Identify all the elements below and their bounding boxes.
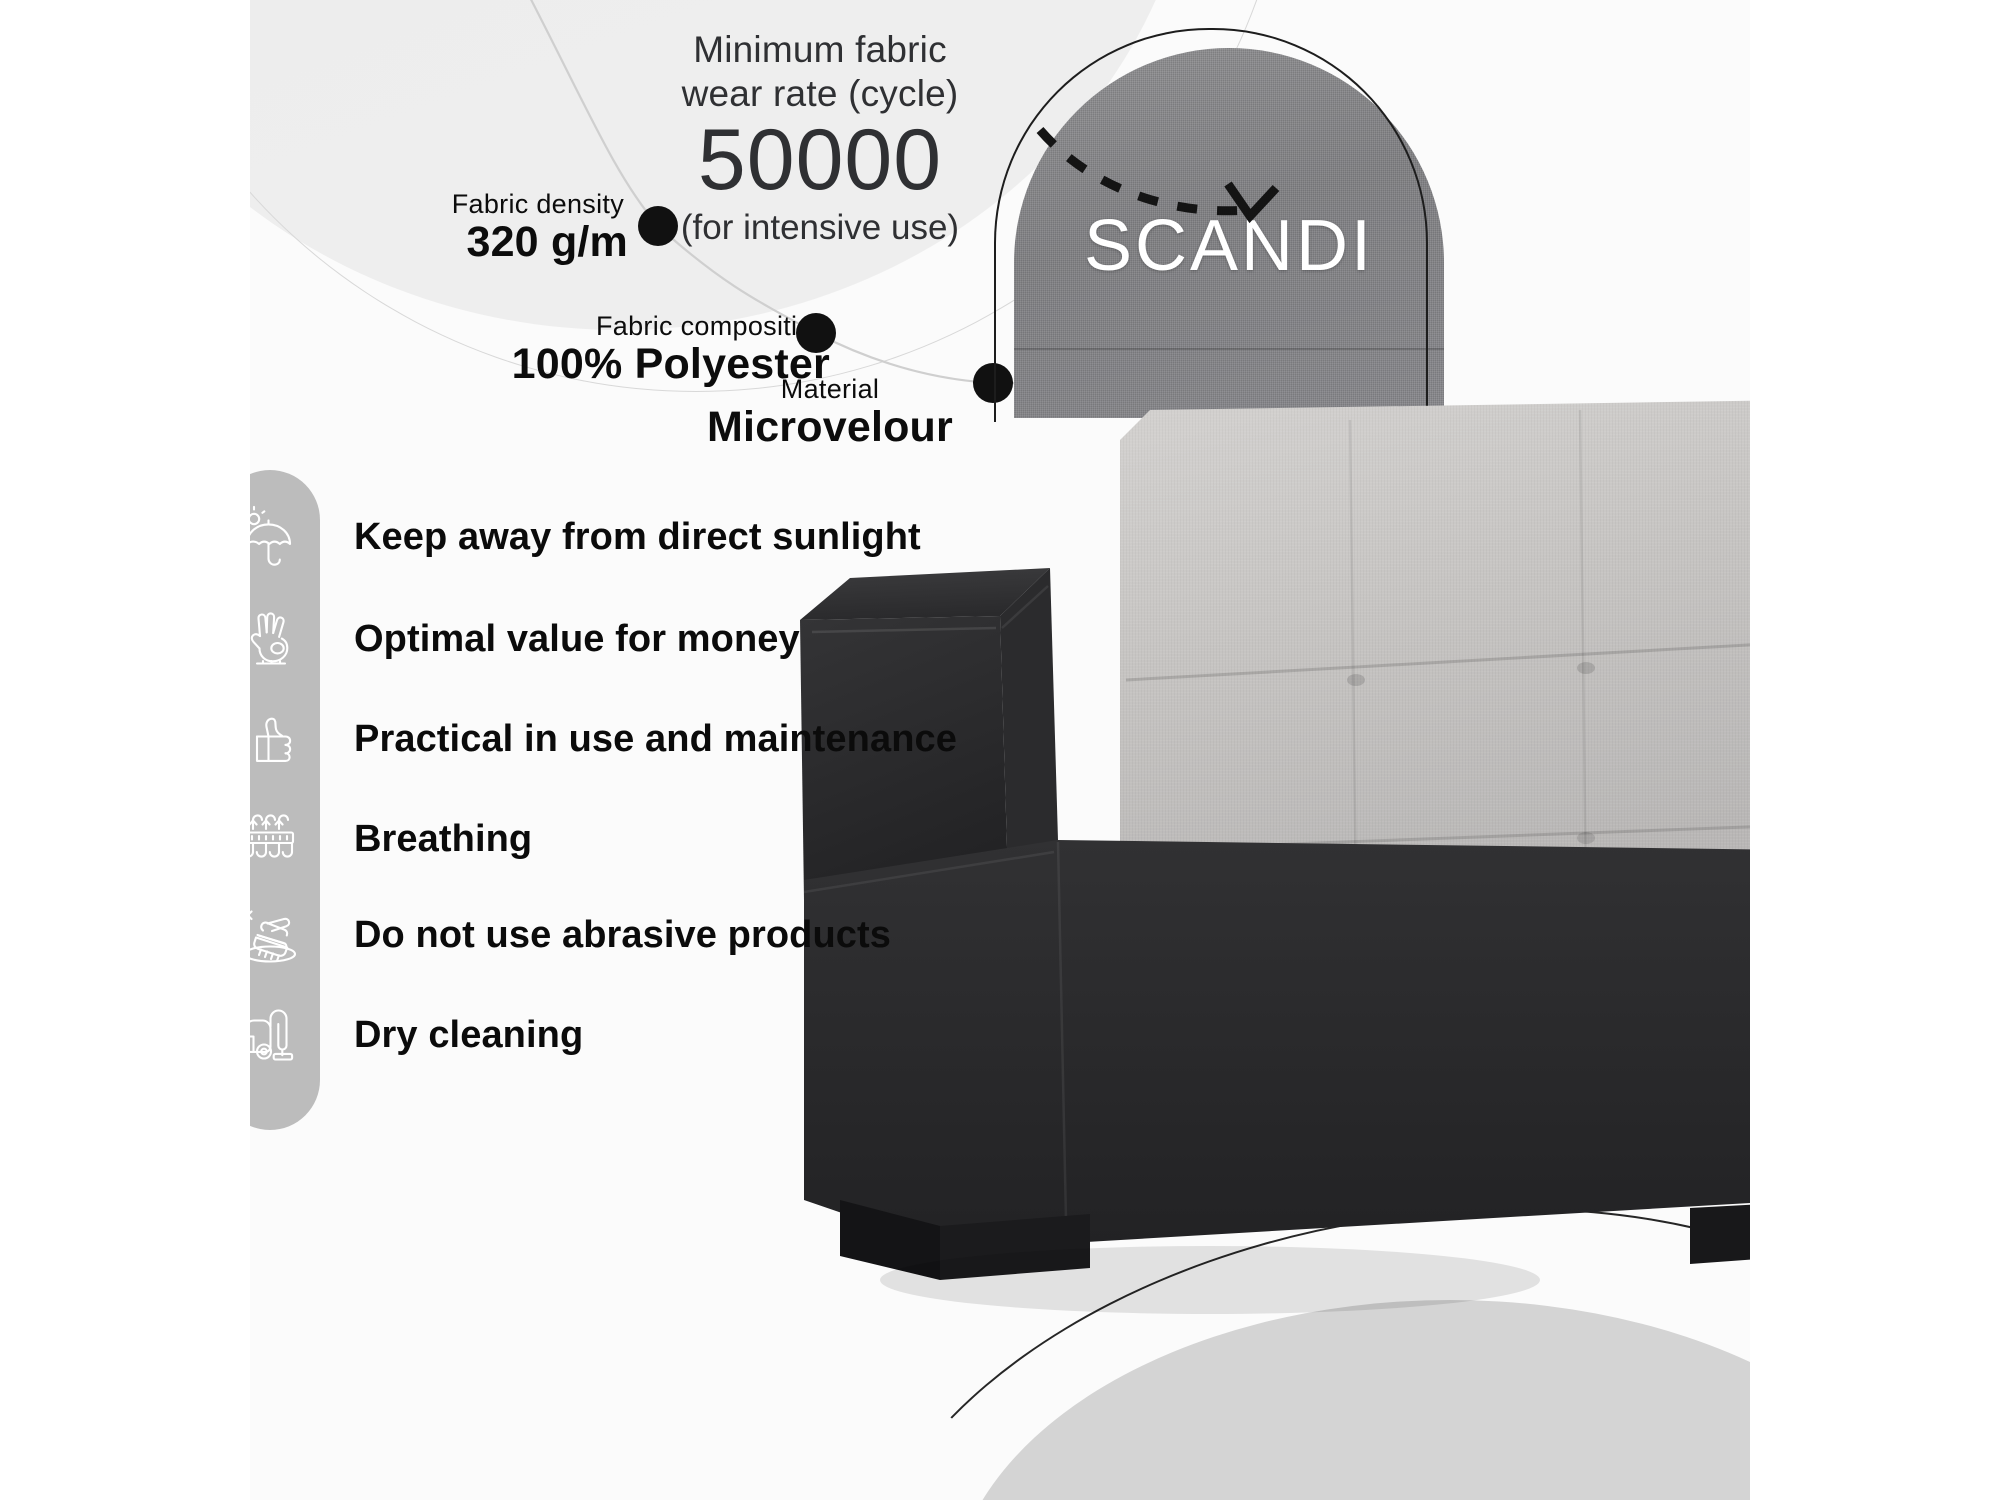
ok-hand-icon bbox=[250, 606, 320, 672]
vacuum-cleaner-icon bbox=[250, 1002, 320, 1068]
right-margin-band bbox=[1750, 0, 2000, 1500]
spec-dot-fabric-density bbox=[638, 206, 678, 246]
infographic-canvas: Minimum fabric wear rate (cycle) 50000 (… bbox=[250, 0, 1750, 1500]
thumbs-up-icon bbox=[250, 706, 320, 772]
care-item-breathing: Breathing bbox=[250, 802, 980, 876]
spec-fabric-composition-label: Fabric composition bbox=[260, 312, 830, 340]
care-item-label: Dry cleaning bbox=[320, 1013, 980, 1057]
spec-fabric-density-label: Fabric density bbox=[250, 190, 628, 218]
care-item-label: Keep away from direct sunlight bbox=[320, 515, 980, 559]
care-item-keep-away-sunlight: Keep away from direct sunlight bbox=[250, 500, 980, 574]
left-margin-band bbox=[0, 0, 250, 1500]
infographic-root: Minimum fabric wear rate (cycle) 50000 (… bbox=[0, 0, 2000, 1500]
air-flow-icon bbox=[250, 806, 320, 872]
dashed-curved-arrow-icon bbox=[980, 20, 1500, 420]
care-item-label: Breathing bbox=[320, 817, 980, 861]
care-item-optimal-value: Optimal value for money bbox=[250, 602, 980, 676]
care-item-dry-cleaning: Dry cleaning bbox=[250, 998, 980, 1072]
fabric-swatch: SCANDI bbox=[980, 20, 1500, 420]
spec-dot-fabric-composition bbox=[796, 313, 836, 353]
care-item-label: Do not use abrasive products bbox=[320, 913, 980, 957]
spec-fabric-density: Fabric density 320 g/m bbox=[250, 190, 628, 267]
umbrella-sun-icon bbox=[250, 504, 320, 570]
care-item-label: Practical in use and maintenance bbox=[320, 717, 980, 761]
no-abrasive-brush-icon bbox=[250, 902, 320, 968]
care-item-no-abrasive: Do not use abrasive products bbox=[250, 898, 980, 972]
care-item-practical: Practical in use and maintenance bbox=[250, 702, 980, 776]
care-item-label: Optimal value for money bbox=[320, 617, 980, 661]
spec-fabric-density-value: 320 g/m bbox=[250, 219, 628, 266]
care-instructions-list: Keep away from direct sunlight Op bbox=[250, 470, 980, 1072]
